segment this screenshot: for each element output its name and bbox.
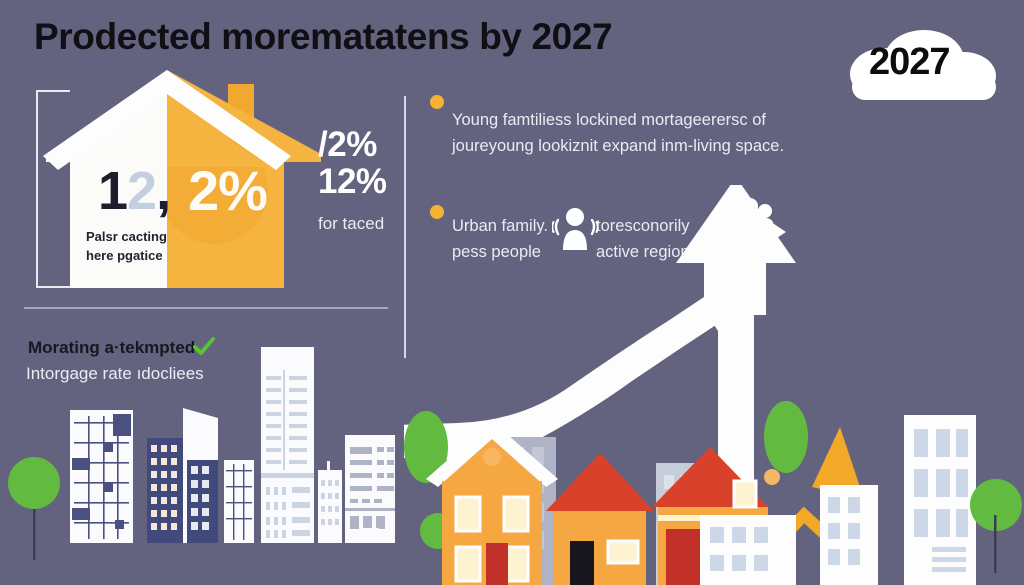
- bullet-1-text: Young famtiliess lockined mortageerersc …: [452, 108, 784, 159]
- page-title: Prodected morematatens by 2027: [34, 16, 612, 58]
- house-stat-percent: 2%: [188, 158, 267, 223]
- growth-arrow-illustration: [404, 185, 1024, 585]
- city-skyline-illustration: [0, 330, 410, 585]
- house-stat-number: 12,: [98, 160, 170, 222]
- bullet-1-line-2: joureyoung lookiznit expand inm-living s…: [452, 134, 784, 160]
- house-caption-line-1: Palsr cacting: [86, 228, 167, 247]
- stat-comma: ,: [156, 161, 170, 221]
- horizontal-divider: [24, 307, 388, 309]
- percent-value-top: /2%: [318, 126, 414, 163]
- house-illustration: [38, 62, 328, 288]
- percent-label: for taced: [318, 214, 414, 234]
- infographic-canvas: Prodected morematatens by 2027 2027: [0, 0, 1024, 585]
- bullet-dot-icon: [430, 95, 444, 109]
- stat-digit-2: 2: [127, 161, 156, 221]
- cloud-year-label: 2027: [869, 41, 950, 84]
- stat-digit-1: 1: [98, 161, 127, 221]
- percent-column: /2% 12% for taced: [318, 126, 414, 235]
- bullet-1-line-1: Young famtiliess lockined mortageerersc …: [452, 108, 784, 134]
- house-caption: Palsr cacting here pgatice: [86, 228, 167, 266]
- percent-value-bottom: 12%: [318, 163, 414, 200]
- house-caption-line-2: here pgatice: [86, 247, 167, 266]
